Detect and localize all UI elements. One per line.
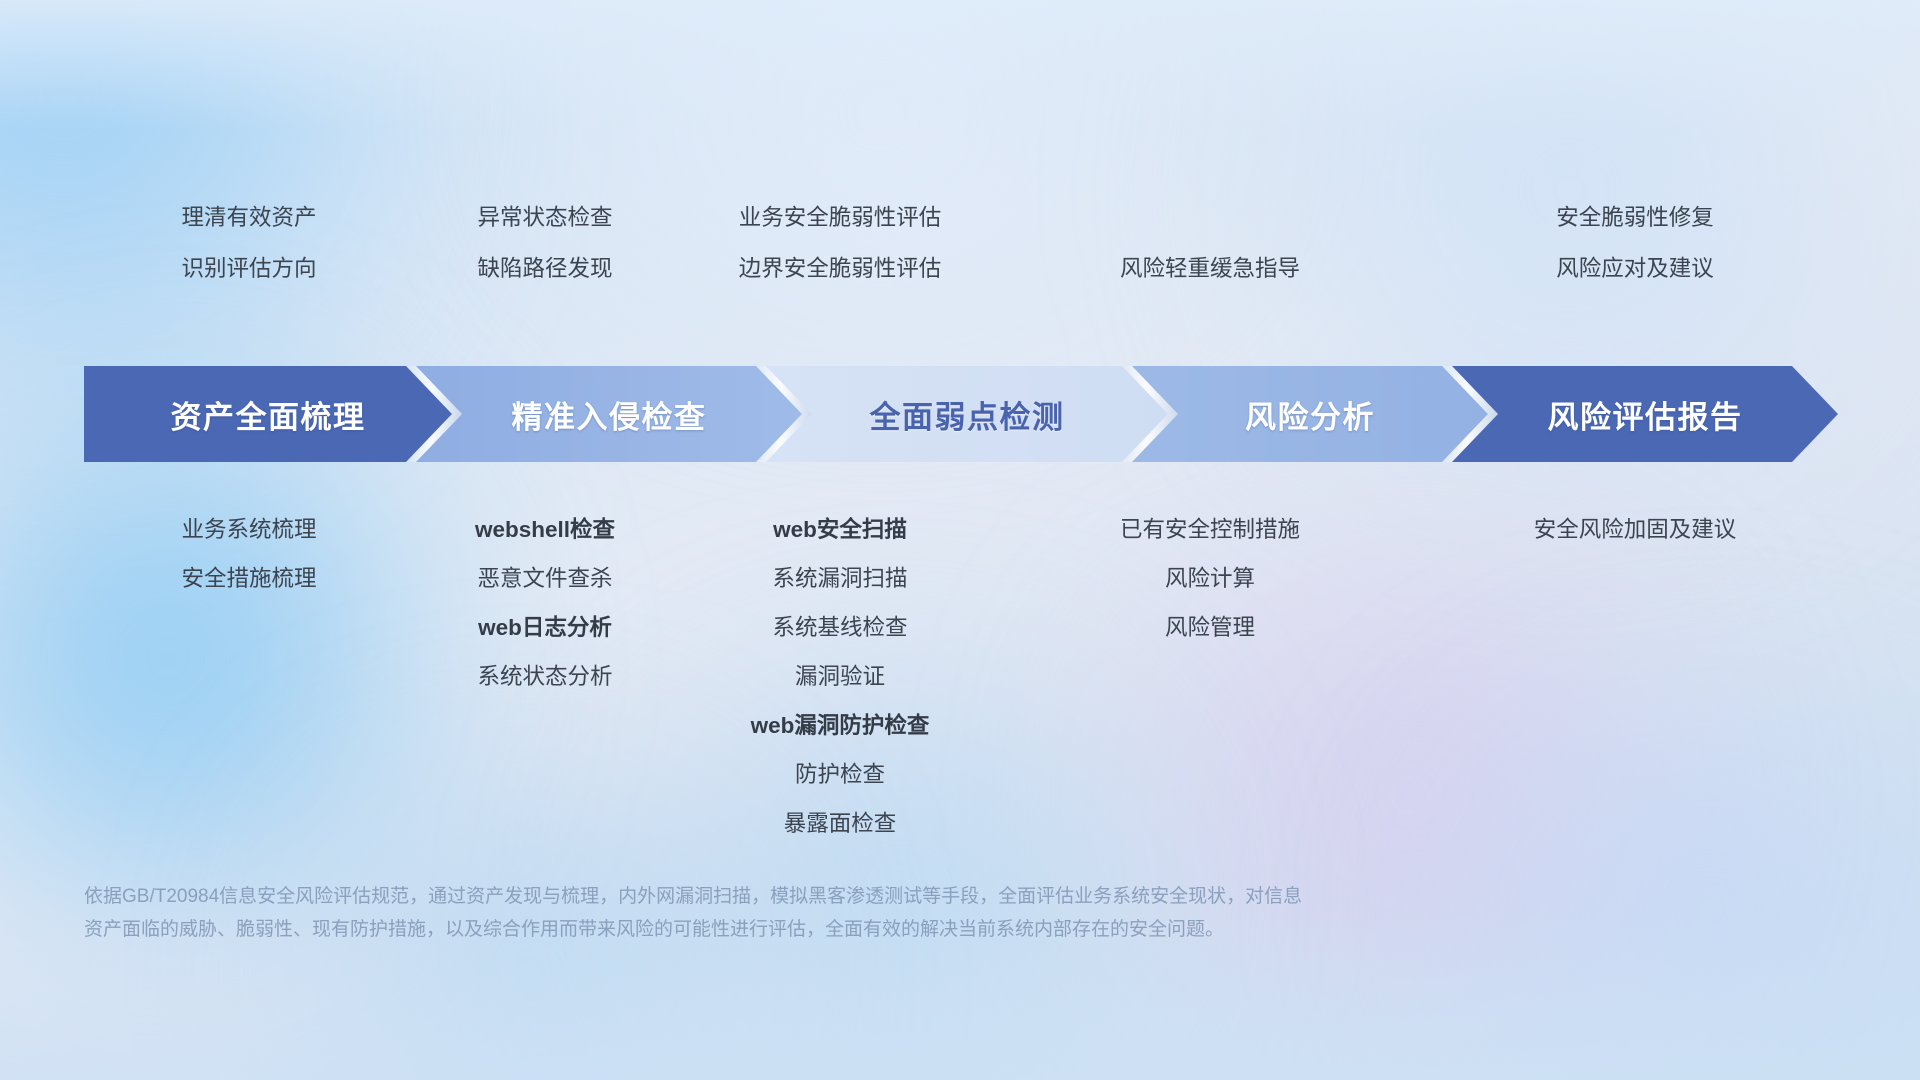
stage-4-top-list: 风险轻重缓急指导: [1000, 258, 1420, 281]
chevron-label: 资产全面梳理: [171, 392, 366, 437]
stage-3-top-list: 业务安全脆弱性评估 边界安全脆弱性评估: [630, 207, 1050, 280]
list-item: 系统基线检查: [650, 603, 1030, 652]
stage-1-bottom-list: 业务系统梳理 安全措施梳理: [84, 505, 414, 603]
top-item: 边界安全脆弱性评估: [630, 258, 1050, 281]
list-item: 安全风险加固及建议: [1430, 505, 1840, 554]
stage-5-top-list: 安全脆弱性修复 风险应对及建议: [1430, 207, 1840, 280]
footer-line-1: 依据GB/T20984信息安全风险评估规范，通过资产发现与梳理，内外网漏洞扫描，…: [84, 880, 1684, 913]
list-item: 系统漏洞扫描: [650, 554, 1030, 603]
chevron-label: 风险评估报告: [1548, 392, 1743, 437]
list-item: 漏洞验证: [650, 652, 1030, 701]
top-item: 理清有效资产: [84, 207, 414, 230]
footer-line-2: 资产面临的威胁、脆弱性、现有防护措施，以及综合作用而带来风险的可能性进行评估，全…: [84, 913, 1684, 946]
stage-3-top-column: 业务安全脆弱性评估 边界安全脆弱性评估: [630, 180, 1050, 280]
process-diagram: 理清有效资产 识别评估方向 异常状态检查 缺陷路径发现 业务安全脆弱性评估 边界…: [0, 0, 1920, 1080]
list-item: 防护检查: [650, 750, 1030, 799]
top-item: 风险轻重缓急指导: [1000, 258, 1420, 281]
chevron-stage-5[interactable]: 风险评估报告: [1452, 366, 1838, 462]
chevron-label: 全面弱点检测: [870, 392, 1065, 437]
process-chevron-band: 资产全面梳理 精准入侵检查 全面弱点检测 风险分析 风险评估报告: [84, 366, 1838, 462]
list-item: 安全措施梳理: [84, 554, 414, 603]
list-item: 暴露面检查: [650, 799, 1030, 848]
top-item: 识别评估方向: [84, 258, 414, 281]
chevron-label: 风险分析: [1245, 392, 1375, 437]
top-item: 业务安全脆弱性评估: [630, 207, 1050, 230]
stage-3-bottom-list: web安全扫描 系统漏洞扫描 系统基线检查 漏洞验证 web漏洞防护检查 防护检…: [650, 505, 1030, 848]
list-item: web漏洞防护检查: [650, 701, 1030, 750]
stage-4-bottom-list: 已有安全控制措施 风险计算 风险管理: [1000, 505, 1420, 652]
top-item: 风险应对及建议: [1430, 258, 1840, 281]
stage-5-top-column: 安全脆弱性修复 风险应对及建议: [1430, 180, 1840, 280]
list-item: 风险计算: [1000, 554, 1420, 603]
stage-1-top-column: 理清有效资产 识别评估方向: [84, 180, 414, 280]
chevron-stage-2[interactable]: 精准入侵检查: [416, 366, 802, 462]
chevron-stage-1[interactable]: 资产全面梳理: [84, 366, 452, 462]
list-item: 已有安全控制措施: [1000, 505, 1420, 554]
stage-4-top-column: 风险轻重缓急指导: [1000, 180, 1420, 280]
stage-1-top-list: 理清有效资产 识别评估方向: [84, 207, 414, 280]
chevron-label: 精准入侵检查: [512, 392, 707, 437]
chevron-stage-4[interactable]: 风险分析: [1132, 366, 1488, 462]
list-item: 风险管理: [1000, 603, 1420, 652]
chevron-stage-3[interactable]: 全面弱点检测: [766, 366, 1168, 462]
footer-description: 依据GB/T20984信息安全风险评估规范，通过资产发现与梳理，内外网漏洞扫描，…: [84, 880, 1684, 946]
list-item: 业务系统梳理: [84, 505, 414, 554]
stage-5-bottom-list: 安全风险加固及建议: [1430, 505, 1840, 554]
list-item: web安全扫描: [650, 505, 1030, 554]
top-item: 安全脆弱性修复: [1430, 207, 1840, 230]
